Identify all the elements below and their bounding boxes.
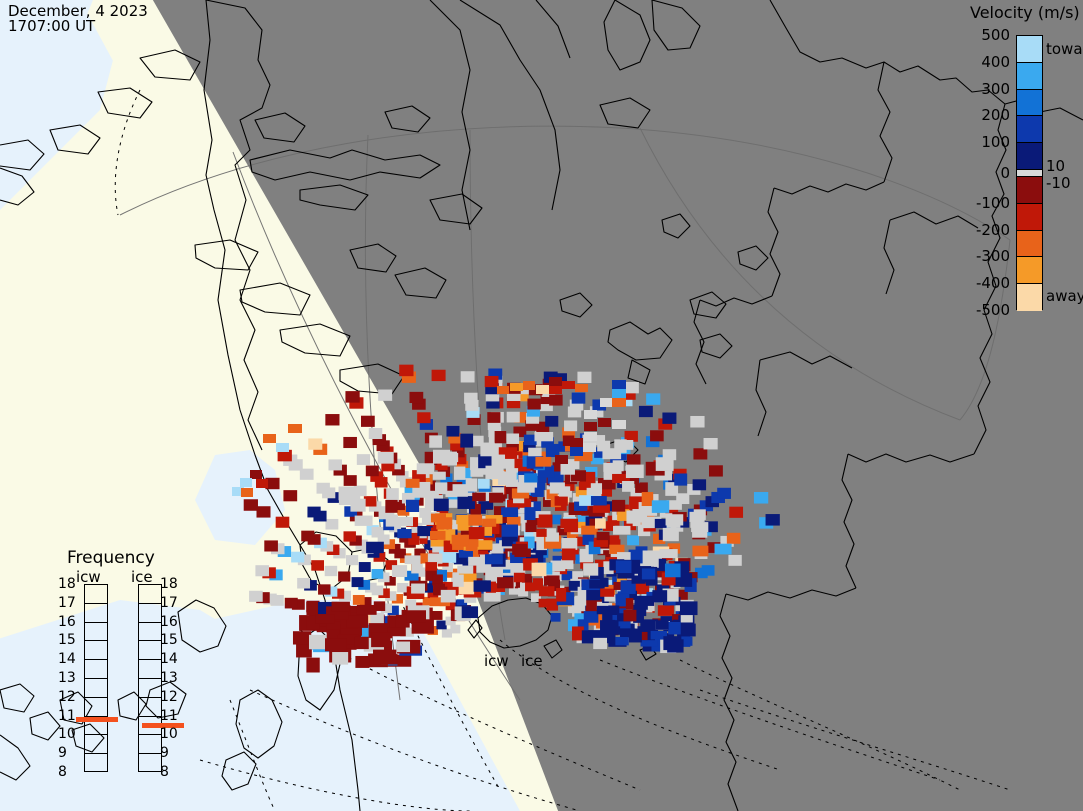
radar-cell-scatter-arc: [715, 544, 732, 555]
radar-cell-ice: [639, 406, 653, 417]
colorbar-band-3: [1017, 116, 1042, 143]
radar-cell-scatter-arc: [406, 479, 420, 488]
radar-cell-icw: [432, 611, 442, 620]
radar-cell-icw: [325, 519, 338, 530]
radar-cell-scatter-arc: [480, 443, 494, 457]
frequency-segment-icw-9: [85, 754, 107, 773]
radar-cell-far-4: [549, 377, 562, 386]
colorbar-band-2: [1017, 90, 1042, 117]
radar-cell-red-block: [346, 615, 368, 628]
colorbar-band-10: [1017, 284, 1042, 311]
radar-cell-orange-patch: [452, 535, 469, 546]
radar-cell-scatter-arc: [396, 517, 413, 526]
radar-cell-far-0: [497, 386, 509, 394]
radar-cell-far-23: [276, 443, 289, 452]
radar-cell-red-block: [332, 602, 350, 612]
radar-cell-blue-cluster: [642, 568, 655, 579]
radar-cell-scatter-arc: [652, 500, 669, 513]
frequency-tick-left-12: 12: [58, 689, 76, 705]
colorbar-band-9: [1017, 257, 1042, 284]
radar-cell-scatter-arc: [446, 453, 458, 462]
frequency-segment-icw-2: [85, 623, 107, 642]
radar-cell-icw: [344, 475, 357, 486]
radar-cell-core: [593, 504, 610, 513]
radar-cell-blue-cluster: [593, 638, 607, 649]
radar-cell-scatter-arc: [453, 484, 468, 497]
radar-cell-core: [613, 526, 630, 535]
radar-cell-icw: [345, 391, 359, 403]
frequency-segment-ice-0: [139, 585, 161, 604]
frequency-tick-right-12: 12: [160, 689, 178, 705]
frequency-tick-left-11: 11: [58, 708, 76, 724]
radar-cell-far-11: [612, 398, 626, 407]
radar-cell-far-14: [584, 432, 597, 441]
radar-cell-icw: [399, 365, 413, 377]
radar-cell-core: [539, 514, 553, 527]
radar-cell-blue-cluster: [629, 629, 642, 643]
radar-cell-scatter-arc: [386, 515, 398, 527]
radar-cell-core: [532, 563, 547, 576]
radar-cell-core: [468, 557, 483, 566]
radar-cell-icw: [364, 496, 377, 506]
radar-cell-ice: [704, 438, 718, 449]
radar-cell-red-block: [355, 656, 369, 668]
colorbar-band-7: [1017, 204, 1042, 231]
frequency-segment-ice-6: [139, 698, 161, 717]
radar-cell-ice: [627, 535, 639, 545]
radar-cell-ice: [690, 416, 704, 428]
radar-cell-icw: [276, 517, 290, 528]
radar-cell-core: [392, 565, 407, 577]
radar-cell-far-9: [612, 380, 626, 389]
radar-cell-icw: [432, 370, 446, 381]
frequency-tick-left-10: 10: [58, 726, 76, 742]
radar-cell-far-19: [583, 443, 596, 452]
frequency-tick-left-14: 14: [58, 651, 76, 667]
frequency-segment-icw-3: [85, 641, 107, 660]
radar-cell-scatter-arc: [460, 434, 473, 448]
radar-cell-red-block: [332, 652, 348, 665]
radar-cell-core: [597, 532, 610, 540]
radar-cell-blue-cluster: [663, 636, 681, 650]
radar-cell-core: [405, 555, 421, 564]
radar-cell-icw: [361, 416, 375, 427]
radar-cell-ice: [572, 393, 586, 404]
radar-cell-scatter-arc: [665, 564, 681, 578]
radar-cell-blue-cluster: [680, 601, 698, 615]
radar-cell-ice: [527, 399, 540, 410]
radar-cell-core: [497, 577, 514, 588]
radar-cell-red-block: [406, 610, 426, 623]
radar-cell-core: [560, 519, 578, 529]
radar-cell-far-12: [584, 410, 597, 419]
radar-cell-blue-cluster: [583, 563, 598, 575]
radar-cell-ice: [702, 565, 715, 576]
radar-cell-scatter-arc: [659, 549, 677, 558]
radar-cell-icw: [417, 412, 430, 423]
radar-cell-core: [425, 562, 437, 571]
radar-cell-scatter-arc: [692, 546, 708, 557]
frequency-segment-icw-6: [85, 698, 107, 717]
radar-cell-blue-cluster: [589, 580, 604, 589]
radar-cell-far-22: [288, 424, 302, 433]
radar-cell-core: [658, 605, 674, 616]
radar-cell-scatter-arc: [603, 463, 617, 472]
radar-cell-icw: [343, 531, 355, 541]
radar-cell-scatter-arc: [591, 496, 607, 505]
radar-cell-core: [433, 472, 446, 480]
radar-cell-far-15: [598, 418, 611, 427]
radar-cell-icw: [285, 598, 298, 609]
frequency-tick-right-10: 10: [160, 726, 178, 742]
frequency-tick-right-11: 11: [160, 708, 178, 724]
colorbar-toward-label: toward: [1046, 40, 1083, 58]
radar-cell-far-8: [600, 398, 614, 407]
colorbar-band-6: [1017, 177, 1042, 204]
radar-cell-red-block: [357, 605, 377, 615]
radar-cell-scatter-arc: [642, 492, 654, 506]
radar-cell-ice: [487, 412, 500, 423]
radar-cell-core: [550, 482, 565, 493]
radar-cell-core: [536, 529, 546, 537]
radar-cell-blue-cluster: [584, 611, 599, 623]
radar-cell-red-block: [325, 638, 347, 651]
radar-cell-red-block: [355, 637, 369, 649]
radar-cell-far-2: [523, 381, 535, 390]
radar-cell-scatter-arc: [454, 467, 465, 480]
radar-cell-scatter-arc: [378, 452, 394, 464]
radar-cell-red-block: [396, 642, 410, 653]
radar-cell-ice: [506, 433, 519, 443]
frequency-tick-right-16: 16: [160, 614, 178, 630]
radar-cell-icw: [353, 595, 365, 605]
frequency-segment-icw-5: [85, 679, 107, 698]
radar-cell-icw: [369, 428, 382, 439]
radar-cell-far-6: [562, 381, 575, 389]
colorbar-tick-300: 300: [954, 80, 1010, 98]
radar-cell-red-block: [315, 614, 334, 624]
radar-cell-ice: [717, 488, 731, 499]
radar-cell-orange-patch: [482, 519, 496, 527]
radar-cell-blue-cluster: [615, 594, 625, 606]
radar-cell-orange-patch: [468, 515, 482, 526]
frequency-tick-right-17: 17: [160, 595, 178, 611]
frequency-tick-left-13: 13: [58, 670, 76, 686]
radar-cell-core: [556, 588, 566, 602]
radar-cell-ice: [693, 479, 706, 490]
radar-cell-core: [397, 529, 411, 538]
colorbar-band-4: [1017, 143, 1042, 170]
radar-cell-orange-patch: [430, 531, 445, 540]
radar-cell-core: [545, 532, 559, 541]
colorbar-tick-neg300: -300: [954, 247, 1010, 265]
radar-cell-scatter-arc: [666, 514, 684, 525]
frequency-tick-left-9: 9: [58, 745, 67, 761]
radar-cell-far-28: [241, 488, 253, 497]
colorbar-band-8: [1017, 231, 1042, 258]
radar-cell-core: [489, 493, 503, 503]
radar-cell-blue-cluster: [656, 620, 669, 630]
frequency-tick-left-15: 15: [58, 632, 76, 648]
radar-cell-ice: [650, 430, 664, 441]
radar-cell-core: [507, 516, 521, 525]
colorbar-tick-200: 200: [954, 106, 1010, 124]
radar-cell-orange-patch: [436, 517, 452, 529]
frequency-tick-right-13: 13: [160, 670, 178, 686]
colorbar-tick-neg400: -400: [954, 274, 1010, 292]
radar-cell-ice: [727, 533, 740, 544]
colorbar-tick-100: 100: [954, 133, 1010, 151]
radar-cell-core: [366, 542, 384, 553]
colorbar-tick-neg200: -200: [954, 221, 1010, 239]
radar-cell-icw: [325, 414, 339, 425]
radar-cell-blue-cluster: [600, 620, 618, 634]
radar-cell-scatter-arc: [591, 483, 602, 494]
radar-cell-blue-cluster: [623, 610, 636, 622]
radar-cell-far-1: [510, 383, 523, 391]
radar-cell-icw: [244, 499, 258, 511]
radar-cell-scatter-arc: [355, 516, 373, 526]
radar-cell-ice: [646, 393, 660, 404]
frequency-tick-right-15: 15: [160, 632, 178, 648]
radar-cell-red-block: [306, 601, 319, 615]
radar-cell-scatter-arc: [429, 435, 442, 447]
radar-cell-far-25: [256, 479, 268, 488]
radar-cell-icw: [366, 466, 379, 477]
radar-cell-icw: [372, 569, 384, 579]
radar-cell-icw: [378, 390, 392, 401]
radar-cell-core: [595, 518, 606, 528]
radar-cell-icw: [325, 566, 337, 576]
frequency-bar-icw: [84, 584, 108, 772]
radar-cell-icw: [461, 371, 475, 382]
radar-cell-scatter-arc: [385, 500, 397, 513]
radar-cell-blue-cluster: [582, 630, 593, 643]
radar-cell-far-18: [570, 447, 583, 456]
radar-cell-scatter-arc: [622, 481, 634, 492]
radar-cell-icw: [318, 584, 330, 594]
radar-cell-red-block: [306, 658, 319, 673]
radar-cell-scatter-arc: [350, 499, 365, 512]
colorbar-band-0: [1017, 36, 1042, 63]
radar-cell-core: [434, 499, 449, 511]
radar-cell-icw: [297, 578, 310, 589]
colorbar-tick-neg100: -100: [954, 194, 1010, 212]
radar-cell-icw: [352, 577, 364, 587]
radar-cell-far-21: [263, 434, 276, 443]
radar-cell-ice: [729, 507, 743, 518]
frequency-segment-ice-3: [139, 641, 161, 660]
radar-cell-core: [514, 573, 525, 582]
radar-cell-far-26: [240, 478, 252, 487]
radar-cell-icw: [249, 591, 263, 602]
colorbar-zero-upper-label: 10: [1046, 157, 1065, 175]
frequency-tick-left-17: 17: [58, 595, 76, 611]
radar-cell-scatter-arc: [435, 482, 447, 494]
radar-cell-core: [539, 586, 555, 596]
radar-cell-scatter-arc: [386, 488, 399, 502]
radar-cell-scatter-arc: [674, 473, 687, 485]
radar-cell-red-block: [371, 632, 390, 647]
colorbar-title: Velocity (m/s): [970, 3, 1080, 22]
radar-cell-orange-patch: [469, 527, 485, 539]
frequency-marker-icw: [76, 717, 118, 722]
radar-cell-ice: [754, 492, 768, 504]
radar-cell-core: [551, 561, 566, 572]
radar-cell-scatter-arc: [485, 466, 503, 479]
radar-cell-ice: [766, 514, 780, 526]
radar-cell-ice: [564, 420, 577, 431]
radar-cell-core: [555, 496, 568, 506]
radar-cell-scatter-arc: [406, 500, 419, 512]
radar-cell-far-10: [612, 389, 626, 398]
radar-cell-icw: [255, 565, 269, 576]
radar-cell-ice: [693, 448, 707, 459]
radar-velocity-map: December, 4 2023 1707:00 UT icw ice Velo…: [0, 0, 1083, 811]
radar-cell-far-16: [612, 420, 626, 429]
frequency-segment-ice-8: [139, 735, 161, 754]
radar-cell-icw: [397, 583, 408, 592]
radar-cell-far-17: [570, 438, 583, 447]
colorbar-zero-lower-label: -10: [1046, 174, 1071, 192]
radar-cell-far-20: [555, 455, 568, 464]
radar-cell-scatter-arc: [534, 432, 553, 441]
radar-cell-core: [411, 564, 423, 574]
frequency-tick-right-14: 14: [160, 651, 178, 667]
radar-cell-icw: [256, 506, 270, 517]
radar-cell-ice: [507, 412, 520, 423]
radar-cell-blue-cluster: [608, 605, 619, 615]
radar-cell-core: [462, 606, 478, 618]
radar-cell-icw: [446, 426, 459, 437]
radar-label-ice: ice: [521, 652, 543, 670]
radar-cell-core: [474, 580, 491, 591]
radar-cell-blue-cluster: [616, 560, 632, 573]
frequency-tick-left-18: 18: [58, 576, 76, 592]
radar-cell-ice: [485, 376, 499, 387]
radar-cell-icw: [343, 437, 357, 448]
frequency-tick-left-16: 16: [58, 614, 76, 630]
radar-cell-red-block: [293, 631, 311, 644]
radar-cell-scatter-arc: [692, 524, 707, 538]
frequency-tick-right-9: 9: [160, 745, 169, 761]
radar-cell-far-5: [549, 386, 562, 394]
radar-cell-core: [524, 507, 535, 520]
radar-cell-scatter-arc: [602, 448, 621, 459]
radar-cell-core: [411, 584, 425, 594]
frequency-segment-icw-4: [85, 660, 107, 679]
radar-cell-icw: [301, 531, 314, 542]
radar-cell-scatter-arc: [694, 509, 706, 520]
radar-cell-icw: [346, 555, 358, 565]
radar-cell-scatter-arc: [626, 465, 644, 478]
radar-cell-core: [514, 549, 530, 557]
radar-cell-icw: [436, 621, 446, 630]
colorbar-gradient: [1016, 35, 1043, 310]
radar-cell-scatter-arc: [495, 431, 507, 443]
colorbar-tick-400: 400: [954, 53, 1010, 71]
radar-cell-core: [502, 525, 519, 539]
radar-cell-scatter-arc: [339, 486, 357, 500]
frequency-tick-right-8: 8: [160, 764, 169, 780]
radar-cell-icw: [464, 393, 477, 404]
radar-cell-red-block: [373, 650, 396, 665]
radar-cell-icw: [307, 507, 320, 518]
radar-cell-icw: [317, 483, 330, 494]
frequency-segment-icw-1: [85, 604, 107, 623]
radar-cell-core: [501, 507, 518, 517]
colorbar-tick-0: 0: [954, 164, 1010, 182]
frequency-legend-title: Frequency: [67, 548, 155, 568]
colorbar-tick-neg500: -500: [954, 301, 1010, 319]
radar-cell-far-13: [584, 422, 597, 431]
radar-label-icw: icw: [484, 652, 509, 670]
radar-cell-icw: [409, 392, 423, 403]
radar-cell-core: [441, 590, 456, 603]
radar-cell-ice: [551, 613, 561, 622]
frequency-segment-ice-2: [139, 623, 161, 642]
radar-cell-ice: [625, 382, 639, 393]
radar-cell-blue-cluster: [668, 622, 681, 634]
radar-cell-scatter-arc: [524, 473, 537, 482]
radar-cell-ice: [662, 413, 676, 424]
radar-cell-blue-cluster: [652, 590, 667, 602]
radar-cell-scatter-arc: [656, 457, 674, 471]
radar-cell-icw: [478, 479, 490, 489]
radar-cell-scatter-arc: [535, 457, 551, 467]
radar-cell-ice: [549, 395, 562, 406]
radar-cell-icw: [450, 625, 460, 634]
frequency-bar-ice: [138, 584, 162, 772]
frequency-segment-ice-9: [139, 754, 161, 773]
radar-cell-ice: [545, 416, 558, 427]
radar-cell-icw: [359, 562, 371, 572]
radar-cell-core: [562, 548, 576, 560]
radar-cell-ice: [709, 465, 723, 476]
frequency-tick-right-18: 18: [160, 576, 178, 592]
radar-cell-icw: [311, 560, 324, 570]
radar-cell-core: [612, 500, 625, 512]
time-label: 1707:00 UT: [8, 19, 95, 34]
radar-cell-icw: [264, 540, 278, 551]
radar-cell-ice: [577, 372, 591, 383]
radar-cell-far-24: [250, 470, 262, 479]
frequency-tick-left-8: 8: [58, 764, 67, 780]
radar-cell-core: [472, 493, 486, 502]
radar-cell-icw: [328, 459, 341, 470]
colorbar-away-label: away: [1046, 287, 1083, 305]
radar-cell-icw: [357, 454, 370, 465]
frequency-segment-ice-5: [139, 679, 161, 698]
radar-cell-far-3: [536, 385, 549, 394]
colorbar-band-1: [1017, 63, 1042, 90]
colorbar-band-5: [1017, 170, 1042, 177]
colorbar-tick-500: 500: [954, 26, 1010, 44]
frequency-segment-icw-8: [85, 735, 107, 754]
radar-cell-scatter-arc: [417, 463, 434, 474]
radar-cell-icw: [338, 571, 350, 581]
radar-cell-blue-cluster: [634, 596, 647, 609]
radar-cell-core: [457, 566, 473, 574]
radar-cell-icw: [283, 490, 297, 501]
radar-cell-scatter-arc: [641, 517, 655, 529]
frequency-segment-ice-4: [139, 660, 161, 679]
frequency-segment-icw-0: [85, 585, 107, 604]
radar-cell-scatter-arc: [621, 440, 633, 450]
radar-cell-core: [372, 527, 385, 538]
radar-cell-core: [485, 554, 503, 564]
radar-cell-core: [561, 538, 577, 550]
